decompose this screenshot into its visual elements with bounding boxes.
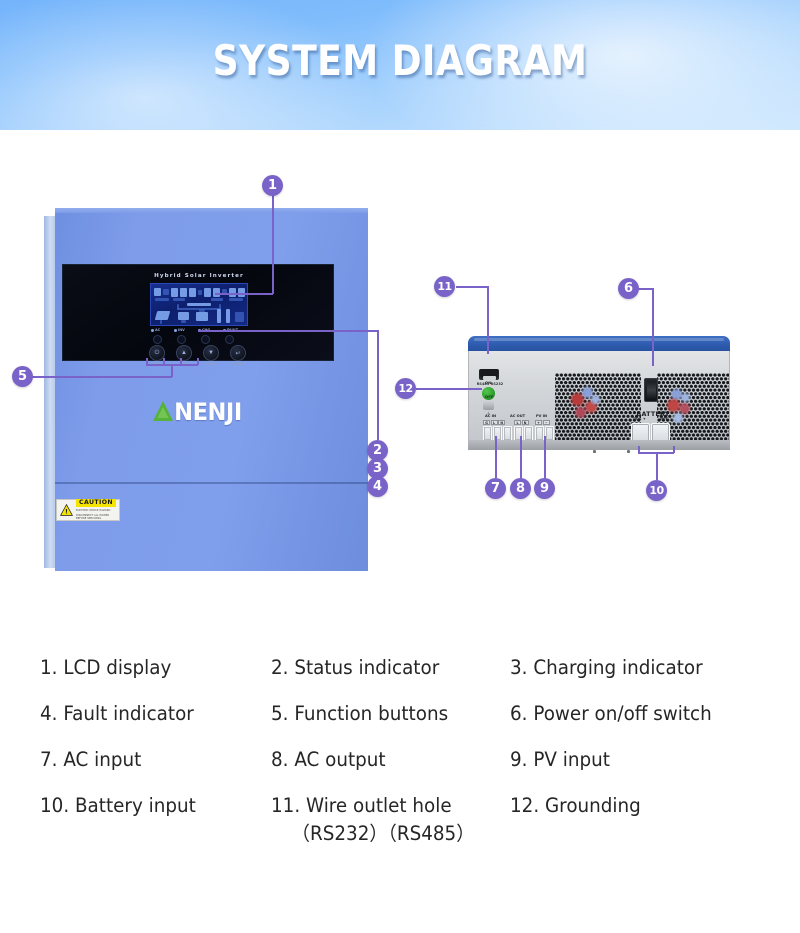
charging-indicator-light bbox=[177, 335, 186, 344]
legend-item-11-note: （RS232）（RS485） bbox=[271, 819, 496, 849]
callout-marker-1[interactable]: 1 bbox=[262, 175, 283, 196]
legend-cell: 3. Charging indicator bbox=[510, 655, 741, 681]
legend-cell: 5. Function buttons bbox=[271, 701, 510, 727]
socket-pv-in-minus[interactable] bbox=[545, 426, 554, 441]
legend-row: 4. Fault indicator 5. Function buttons 6… bbox=[40, 701, 760, 727]
battery-pos-label: POS + bbox=[633, 417, 646, 421]
grounding-nut bbox=[483, 401, 494, 410]
anenji-triangle-icon bbox=[152, 400, 174, 422]
caution-band: CAUTION bbox=[76, 499, 116, 507]
legend-cell: 9. PV input bbox=[510, 747, 741, 773]
leader-line-6-horizontal bbox=[637, 288, 653, 290]
legend-row: 10. Battery input 11. Wire outlet hole （… bbox=[40, 793, 760, 849]
leader-line-11-horizontal bbox=[456, 286, 488, 288]
button-down-label: DOWN bbox=[201, 362, 221, 366]
legend-item-5: 5. Function buttons bbox=[271, 701, 496, 727]
terminal-pins-ac-in: G L N bbox=[483, 420, 505, 425]
legend-cell: 1. LCD display bbox=[40, 655, 271, 681]
legend-item-12: 12. Grounding bbox=[510, 793, 727, 819]
front-top-edge bbox=[55, 208, 368, 213]
brand-name: NENJI bbox=[174, 398, 242, 426]
rear-screw-left bbox=[593, 450, 596, 453]
callout-marker-4[interactable]: 4 bbox=[367, 476, 388, 497]
status-indicator-lights bbox=[153, 335, 247, 344]
leader-line-1-vertical bbox=[272, 194, 274, 294]
button-enter[interactable]: ↵ bbox=[230, 345, 246, 361]
leader-line-10-vertical bbox=[656, 452, 658, 480]
sockets-ac-in[interactable] bbox=[483, 426, 512, 441]
callout-marker-11[interactable]: 11 bbox=[434, 276, 455, 297]
leader-line-5-horizontal bbox=[32, 376, 172, 378]
leader-line-5-bracket bbox=[146, 364, 198, 366]
terminal-head-ac-in: AC IN bbox=[485, 414, 496, 418]
switch-off-label: OFF bbox=[485, 394, 493, 399]
leader-tick-10b bbox=[673, 446, 675, 453]
rear-screw-right bbox=[627, 450, 630, 453]
leader-tick-5c bbox=[180, 358, 182, 365]
control-panel: Hybrid Solar Inverter bbox=[62, 264, 334, 361]
leader-line-12-horizontal bbox=[416, 388, 482, 390]
legend-item-11: 11. Wire outlet hole bbox=[271, 793, 496, 819]
leader-line-234-horizontal bbox=[198, 330, 378, 332]
switch-on-label: ON bbox=[485, 380, 491, 385]
socket-ac-out-l[interactable] bbox=[514, 426, 523, 441]
legend-row: 7. AC input 8. AC output 9. PV input bbox=[40, 747, 760, 773]
callout-marker-9[interactable]: 9 bbox=[534, 478, 555, 499]
sockets-ac-out[interactable] bbox=[514, 426, 533, 441]
leader-line-5-vertical bbox=[171, 364, 173, 377]
svg-text:!: ! bbox=[65, 508, 68, 516]
callout-marker-7[interactable]: 7 bbox=[485, 478, 506, 499]
warning-triangle-icon: ! bbox=[60, 504, 73, 516]
legend-row: 1. LCD display 2. Status indicator 3. Ch… bbox=[40, 655, 760, 681]
legend-cell: 8. AC output bbox=[271, 747, 510, 773]
switch-rocker[interactable] bbox=[647, 381, 656, 400]
legend-cell: 2. Status indicator bbox=[271, 655, 510, 681]
legend-cell: 4. Fault indicator bbox=[40, 701, 271, 727]
power-onoff-switch[interactable] bbox=[644, 378, 658, 402]
legend-item-7: 7. AC input bbox=[40, 747, 257, 773]
legend-cell: 11. Wire outlet hole （RS232）（RS485） bbox=[271, 793, 510, 849]
pin-ac-in-n: N bbox=[498, 420, 505, 425]
inverter-rear-view: RS485 RS232 ⏚ AC IN G L N AC OUT bbox=[468, 336, 730, 456]
fault-indicator-light bbox=[201, 335, 210, 344]
status-indicator-light bbox=[153, 335, 162, 344]
brand-logo: NENJI bbox=[152, 398, 282, 424]
callout-marker-12[interactable]: 12 bbox=[395, 378, 416, 399]
socket-ac-in-g[interactable] bbox=[483, 426, 492, 441]
terminal-head-ac-out: AC OUT bbox=[510, 414, 525, 418]
rear-chassis: RS485 RS232 ⏚ AC IN G L N AC OUT bbox=[468, 351, 730, 441]
pin-ac-out-l: L bbox=[514, 420, 521, 425]
fan-vent-left bbox=[555, 373, 641, 445]
led-dot-inv bbox=[174, 329, 177, 332]
caution-text-block: CAUTION ELECTRIC SHOCK HAZARD DISCONNECT… bbox=[76, 499, 116, 520]
leader-line-11-vertical bbox=[487, 286, 489, 354]
terminal-pins-pv-in: + − bbox=[535, 420, 550, 425]
legend-item-3: 3. Charging indicator bbox=[510, 655, 727, 681]
leader-tick-5d bbox=[197, 358, 199, 365]
legend-item-4: 4. Fault indicator bbox=[40, 701, 257, 727]
battery-neg-label: NEG − bbox=[660, 417, 673, 421]
socket-ac-in-n[interactable] bbox=[503, 426, 512, 441]
leader-line-6-vertical bbox=[652, 288, 654, 366]
legend-list: 1. LCD display 2. Status indicator 3. Ch… bbox=[40, 655, 760, 869]
leader-line-8 bbox=[520, 436, 522, 478]
legend-item-1: 1. LCD display bbox=[40, 655, 257, 681]
page-header: SYSTEM DIAGRAM bbox=[0, 0, 800, 130]
led-label-inv: INV bbox=[178, 328, 185, 332]
socket-pv-in-plus[interactable] bbox=[535, 426, 544, 441]
page-title: SYSTEM DIAGRAM bbox=[56, 36, 744, 85]
leader-line-9 bbox=[544, 436, 546, 478]
rear-base-rail bbox=[468, 440, 730, 450]
legend-cell: 7. AC input bbox=[40, 747, 271, 773]
legend-item-8: 8. AC output bbox=[271, 747, 496, 773]
pin-ac-out-n: N bbox=[522, 420, 529, 425]
led-label-ac: AC bbox=[155, 328, 160, 332]
terminal-head-pv-in: PV IN bbox=[536, 414, 547, 418]
caution-line-1: ELECTRIC SHOCK HAZARD bbox=[76, 509, 116, 512]
callout-marker-6[interactable]: 6 bbox=[618, 278, 639, 299]
caution-line-2: DISCONNECT ALL POWER BEFORE SERVICING bbox=[76, 514, 116, 521]
socket-ac-out-n[interactable] bbox=[524, 426, 533, 441]
leader-line-7 bbox=[495, 436, 497, 478]
caution-label: ! CAUTION ELECTRIC SHOCK HAZARD DISCONNE… bbox=[56, 499, 120, 521]
terminal-pins-ac-out: L N bbox=[514, 420, 529, 425]
legend-item-9: 9. PV input bbox=[510, 747, 727, 773]
pin-ac-in-g: G bbox=[483, 420, 490, 425]
callout-marker-8[interactable]: 8 bbox=[510, 478, 531, 499]
leader-tick-10a bbox=[638, 446, 640, 453]
system-diagram-page: SYSTEM DIAGRAM Hybrid Solar Inverter bbox=[0, 0, 800, 933]
button-up[interactable]: ▲ bbox=[176, 345, 192, 361]
legend-cell: 10. Battery input bbox=[40, 793, 271, 849]
ac-indicator-light bbox=[225, 335, 234, 344]
leader-tick-5a bbox=[146, 358, 148, 365]
pin-ac-in-l: L bbox=[491, 420, 498, 425]
leader-tick-5b bbox=[163, 358, 165, 365]
button-enter-label: ENTER bbox=[228, 362, 248, 366]
legend-item-6: 6. Power on/off switch bbox=[510, 701, 727, 727]
control-panel-title: Hybrid Solar Inverter bbox=[63, 273, 335, 279]
battery-polarity-labels: POS + NEG − bbox=[626, 417, 680, 421]
callout-marker-5[interactable]: 5 bbox=[12, 366, 33, 387]
leader-line-234-vertical bbox=[377, 330, 379, 440]
pin-pv-in-minus: − bbox=[543, 420, 550, 425]
callout-marker-10[interactable]: 10 bbox=[646, 480, 667, 501]
legend-item-10: 10. Battery input bbox=[40, 793, 257, 819]
button-down[interactable]: ▼ bbox=[203, 345, 219, 361]
legend-cell: 6. Power on/off switch bbox=[510, 701, 741, 727]
pin-pv-in-plus: + bbox=[535, 420, 542, 425]
lcd-display[interactable] bbox=[150, 283, 248, 326]
led-dot-ac bbox=[151, 329, 154, 332]
leader-line-1-horizontal bbox=[215, 293, 273, 295]
inverter-front-view: Hybrid Solar Inverter bbox=[44, 208, 368, 571]
legend-cell: 12. Grounding bbox=[510, 793, 741, 849]
legend-item-2: 2. Status indicator bbox=[271, 655, 496, 681]
